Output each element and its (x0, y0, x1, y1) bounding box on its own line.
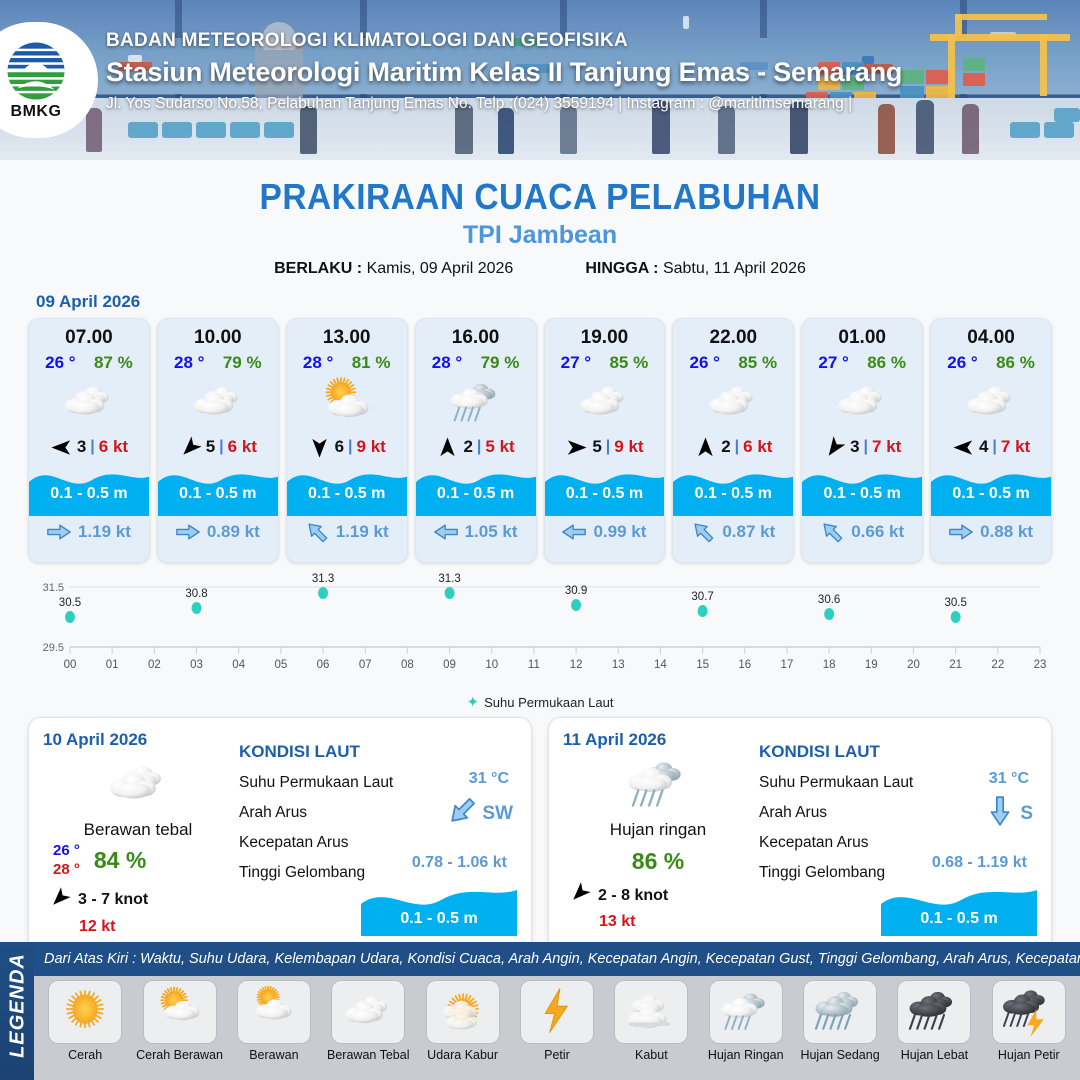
wind-gust-separator: | (90, 438, 94, 456)
current-row: 0.87 kt (673, 516, 793, 548)
current-direction-value: SW (482, 803, 513, 825)
forecast-temp-hum-row: 26 ° 86 % (931, 349, 1051, 373)
svg-text:09: 09 (443, 659, 456, 669)
forecast-humidity: 87 % (94, 353, 133, 373)
day-weather-icon (43, 754, 233, 816)
svg-text:04: 04 (232, 659, 245, 669)
day-humidity: 86 % (563, 848, 753, 875)
svg-text:21: 21 (949, 659, 962, 669)
svg-text:23: 23 (1034, 659, 1047, 669)
forecast-temperature: 26 ° (45, 353, 75, 373)
hingga-group: HINGGA : Sabtu, 11 April 2026 (585, 260, 806, 278)
wind-gust: 6 kt (743, 437, 772, 457)
legend-order-note: Dari Atas Kiri : Waktu, Suhu Udara, Kele… (34, 942, 1080, 976)
legend-item: Berawan Tebal (323, 980, 413, 1062)
day-left-column: 10 April 2026 Berawan tebal (43, 730, 233, 942)
wind-speed: 6 (335, 437, 344, 457)
svg-text:08: 08 (401, 659, 414, 669)
forecast-temperature: 28 ° (174, 353, 204, 373)
day-wind-range: 3 - 7 knot (78, 891, 148, 909)
agency-name: BADAN METEOROLOGI KLIMATOLOGI DAN GEOFIS… (106, 30, 1066, 52)
svg-text:02: 02 (148, 659, 161, 669)
legend-item-label: Hujan Petir (998, 1048, 1060, 1062)
forecast-humidity: 85 % (609, 353, 648, 373)
current-speed-value: 0.78 - 1.06 kt (412, 854, 507, 872)
forecast-wind-row: 2 | 6 kt (673, 432, 793, 462)
wind-gust-separator: | (864, 438, 868, 456)
weather-condition-icon (416, 376, 536, 430)
svg-text:12: 12 (570, 659, 583, 669)
legend-item-label: Hujan Lebat (901, 1048, 968, 1062)
wind-speed: 2 (721, 437, 730, 457)
title-block: PRAKIRAAN CUACA PELABUHAN TPI Jambean BE… (0, 160, 1080, 278)
day-wind-direction-arrow-icon (569, 882, 591, 909)
forecast-wind-row: 2 | 5 kt (416, 432, 536, 462)
wind-gust: 7 kt (1001, 437, 1030, 457)
svg-text:30.5: 30.5 (59, 597, 81, 609)
day-condition-label: Berawan tebal (43, 820, 233, 840)
forecast-wind-row: 6 | 9 kt (287, 432, 407, 462)
wind-direction-arrow-icon (308, 436, 331, 459)
legend-icon-box (48, 980, 122, 1044)
forecast-time: 22.00 (673, 319, 793, 349)
wind-speed: 3 (77, 437, 86, 457)
day-wind-direction-arrow-icon (49, 887, 71, 914)
forecast-time: 07.00 (29, 319, 149, 349)
wind-gust-separator: | (348, 438, 352, 456)
bmkg-logo-label: BMKG (11, 103, 62, 121)
forecast-date-label: 09 April 2026 (36, 292, 1080, 312)
day-gust: 12 kt (43, 918, 233, 936)
page-title: PRAKIRAAN CUACA PELABUHAN (38, 176, 1042, 218)
sst-value: 31 °C (469, 770, 509, 788)
svg-text:10: 10 (485, 659, 498, 669)
day-wind-range: 2 - 8 knot (598, 887, 668, 905)
svg-text:29.5: 29.5 (43, 642, 64, 654)
legend-icon-box (803, 980, 877, 1044)
legend-icon-box (426, 980, 500, 1044)
forecast-time: 10.00 (158, 319, 278, 349)
current-direction-arrow-icon (562, 523, 586, 541)
current-speed: 0.88 kt (980, 522, 1033, 542)
wind-speed: 4 (979, 437, 988, 457)
current-direction-arrow-icon (434, 523, 458, 541)
wind-direction-arrow-icon (50, 436, 73, 459)
forecast-time: 16.00 (416, 319, 536, 349)
weather-condition-icon (931, 376, 1051, 430)
contact-line: Jl. Yos Sudarso No.58, Pelabuhan Tanjung… (106, 95, 1066, 113)
chart-legend: ✦ Suhu Permukaan Laut (0, 693, 1080, 711)
page-subtitle: TPI Jambean (0, 221, 1080, 250)
current-speed: 1.19 kt (78, 522, 131, 542)
legend-icon-box (614, 980, 688, 1044)
forecast-humidity: 79 % (481, 353, 520, 373)
wave-height-band: 0.1 - 0.5 m (416, 464, 536, 516)
legend-icon-box (897, 980, 971, 1044)
legend-item: Hujan Ringan (701, 980, 791, 1062)
wave-height-value: 0.1 - 0.5 m (416, 485, 536, 503)
validity-row: BERLAKU : Kamis, 09 April 2026 HINGGA : … (0, 260, 1080, 278)
legend-side-banner: LEGENDA (0, 942, 34, 1080)
legend-item-label: Udara Kabur (427, 1048, 498, 1062)
forecast-wind-row: 5 | 6 kt (158, 432, 278, 462)
svg-text:05: 05 (274, 659, 287, 669)
forecast-time: 01.00 (802, 319, 922, 349)
legend-item: Hujan Petir (984, 980, 1074, 1062)
wind-direction-arrow-icon (694, 436, 717, 459)
svg-text:19: 19 (865, 659, 878, 669)
forecast-wind-row: 4 | 7 kt (931, 432, 1051, 462)
sea-conditions-title: KONDISI LAUT (239, 742, 517, 762)
forecast-card: 10.00 28 ° 79 % 5 (157, 318, 279, 563)
legend-item-label: Hujan Sedang (800, 1048, 879, 1062)
day-wind-row: 2 - 8 knot (563, 882, 753, 909)
wind-gust-separator: | (606, 438, 610, 456)
day-wave-band: 0.1 - 0.5 m (361, 882, 517, 936)
current-speed-label: Kecepatan Arus (239, 834, 517, 852)
current-row: 0.88 kt (931, 516, 1051, 548)
day-left-column: 11 April 2026 Hujan ringan 86 % (563, 730, 753, 942)
legend-item: Petir (512, 980, 602, 1062)
current-row: 1.19 kt (29, 516, 149, 548)
day-temperature-range: 26 ° 28 ° (53, 842, 80, 880)
forecast-wind-row: 3 | 7 kt (802, 432, 922, 462)
current-speed: 0.89 kt (207, 522, 260, 542)
sst-chart-svg: 31.529.500010203040506070809101112131415… (28, 573, 1052, 669)
forecast-temperature: 26 ° (947, 353, 977, 373)
svg-text:20: 20 (907, 659, 920, 669)
wave-height-value: 0.1 - 0.5 m (931, 485, 1051, 503)
wave-height-value: 0.1 - 0.5 m (545, 485, 665, 503)
forecast-card: 13.00 28 ° 81 % 6 | 9 kt (286, 318, 408, 563)
svg-text:13: 13 (612, 659, 625, 669)
wave-height-band: 0.1 - 0.5 m (29, 464, 149, 516)
legend-icon-box (237, 980, 311, 1044)
wave-height-band: 0.1 - 0.5 m (158, 464, 278, 516)
svg-text:16: 16 (738, 659, 751, 669)
forecast-card: 19.00 27 ° 85 % 5 (544, 318, 666, 563)
forecast-humidity: 86 % (867, 353, 906, 373)
wind-direction-arrow-icon (565, 436, 588, 459)
legend-item: Kabut (606, 980, 696, 1062)
forecast-temperature: 27 ° (561, 353, 591, 373)
chart-legend-label: Suhu Permukaan Laut (484, 695, 613, 710)
svg-text:06: 06 (317, 659, 330, 669)
wave-height-band: 0.1 - 0.5 m (287, 464, 407, 516)
current-row: 1.05 kt (416, 516, 536, 548)
berlaku-label: BERLAKU : (274, 260, 362, 277)
current-direction-arrow-icon (305, 523, 329, 541)
legend-item-label: Hujan Ringan (708, 1048, 784, 1062)
wave-height-band: 0.1 - 0.5 m (802, 464, 922, 516)
legend-item: Cerah (40, 980, 130, 1062)
forecast-temp-hum-row: 27 ° 85 % (545, 349, 665, 373)
wind-speed: 2 (463, 437, 472, 457)
svg-text:30.5: 30.5 (944, 597, 966, 609)
current-direction-value: S (1020, 803, 1033, 825)
current-direction-arrow-icon (691, 523, 715, 541)
wind-gust: 5 kt (485, 437, 514, 457)
sst-value: 31 °C (989, 770, 1029, 788)
wind-direction-arrow-icon (179, 436, 202, 459)
weather-condition-icon (29, 376, 149, 430)
forecast-temperature: 28 ° (432, 353, 462, 373)
current-direction-arrow-icon (47, 523, 71, 541)
wave-height-band: 0.1 - 0.5 m (673, 464, 793, 516)
legend-icon-box (143, 980, 217, 1044)
day-temp-min: 26 ° (53, 842, 80, 861)
wind-speed: 5 (592, 437, 601, 457)
current-speed: 1.05 kt (465, 522, 518, 542)
legend-icon-box (709, 980, 783, 1044)
forecast-temperature: 28 ° (303, 353, 333, 373)
svg-text:00: 00 (64, 659, 77, 669)
svg-text:31.5: 31.5 (43, 582, 64, 594)
wind-gust-separator: | (477, 438, 481, 456)
legend-icon-box (520, 980, 594, 1044)
day-condition-label: Hujan ringan (563, 820, 753, 840)
daily-summary-row: 10 April 2026 Berawan tebal (0, 711, 1080, 955)
daily-summary-card: 10 April 2026 Berawan tebal (28, 717, 532, 955)
forecast-card: 07.00 26 ° 87 % 3 (28, 318, 150, 563)
forecast-time: 19.00 (545, 319, 665, 349)
legend-icon-box (992, 980, 1066, 1044)
current-speed-label: Kecepatan Arus (759, 834, 1037, 852)
forecast-wind-row: 3 | 6 kt (29, 432, 149, 462)
wind-direction-arrow-icon (436, 436, 459, 459)
legend-icon-box (331, 980, 405, 1044)
current-direction-arrow-icon (949, 523, 973, 541)
current-row: 0.99 kt (545, 516, 665, 548)
legend-item: Berawan (229, 980, 319, 1062)
svg-text:22: 22 (991, 659, 1004, 669)
berlaku-value: Kamis, 09 April 2026 (367, 260, 514, 277)
current-row: 0.89 kt (158, 516, 278, 548)
page-header: BMKG BADAN METEOROLOGI KLIMATOLOGI DAN G… (0, 0, 1080, 160)
svg-text:14: 14 (654, 659, 667, 669)
wind-speed: 5 (206, 437, 215, 457)
current-speed-value: 0.68 - 1.19 kt (932, 854, 1027, 872)
forecast-wind-row: 5 | 9 kt (545, 432, 665, 462)
legend-section: LEGENDA Dari Atas Kiri : Waktu, Suhu Uda… (0, 942, 1080, 1080)
svg-text:01: 01 (106, 659, 119, 669)
weather-condition-icon (158, 376, 278, 430)
forecast-temp-hum-row: 26 ° 87 % (29, 349, 149, 373)
wave-height-value: 0.1 - 0.5 m (29, 485, 149, 503)
current-speed: 1.19 kt (336, 522, 389, 542)
current-speed: 0.87 kt (722, 522, 775, 542)
wind-gust: 6 kt (99, 437, 128, 457)
current-direction-arrow-icon (447, 800, 477, 827)
hingga-value: Sabtu, 11 April 2026 (663, 260, 806, 277)
svg-text:15: 15 (696, 659, 709, 669)
svg-text:03: 03 (190, 659, 203, 669)
forecast-card-row: 07.00 26 ° 87 % 3 (0, 318, 1080, 563)
day-sea-conditions: KONDISI LAUT Suhu Permukaan Laut Arah Ar… (753, 730, 1037, 942)
legend-item: Hujan Sedang (795, 980, 885, 1062)
hingga-label: HINGGA : (585, 260, 658, 277)
sst-chart: 31.529.500010203040506070809101112131415… (28, 573, 1052, 691)
forecast-card: 22.00 26 ° 85 % 2 (672, 318, 794, 563)
weather-condition-icon (545, 376, 665, 430)
current-speed: 0.66 kt (851, 522, 904, 542)
legend-item-label: Petir (544, 1048, 570, 1062)
wave-height-value: 0.1 - 0.5 m (673, 485, 793, 503)
wave-height-band: 0.1 - 0.5 m (931, 464, 1051, 516)
current-direction-arrow-icon (176, 523, 200, 541)
current-direction-arrow-icon (820, 523, 844, 541)
weather-condition-icon (802, 376, 922, 430)
forecast-temp-hum-row: 28 ° 79 % (158, 349, 278, 373)
day-date: 11 April 2026 (563, 730, 753, 750)
weather-condition-icon (673, 376, 793, 430)
station-name: Stasiun Meteorologi Maritim Kelas II Tan… (106, 57, 1066, 88)
sea-conditions-title: KONDISI LAUT (759, 742, 1037, 762)
wind-gust-separator: | (992, 438, 996, 456)
legend-item-label: Berawan (249, 1048, 298, 1062)
weather-condition-icon (287, 376, 407, 430)
day-gust: 13 kt (563, 913, 753, 931)
svg-text:31.3: 31.3 (312, 573, 334, 585)
wind-gust: 7 kt (872, 437, 901, 457)
forecast-humidity: 86 % (996, 353, 1035, 373)
current-direction-value-group: SW (447, 800, 513, 827)
wave-height-value: 0.1 - 0.5 m (287, 485, 407, 503)
wind-gust: 6 kt (228, 437, 257, 457)
day-temp-max: 28 ° (53, 861, 80, 880)
day-weather-icon (563, 754, 753, 816)
bmkg-logo-mark (5, 40, 67, 102)
day-wave-value: 0.1 - 0.5 m (881, 910, 1037, 928)
forecast-temp-hum-row: 28 ° 79 % (416, 349, 536, 373)
wind-direction-arrow-icon (823, 436, 846, 459)
legend-item-row: Cerah Cerah Berawan (34, 980, 1080, 1062)
forecast-time: 13.00 (287, 319, 407, 349)
svg-text:31.3: 31.3 (438, 573, 460, 585)
current-direction-arrow-icon (985, 800, 1015, 827)
day-date: 10 April 2026 (43, 730, 233, 750)
daily-summary-card: 11 April 2026 Hujan ringan 86 % (548, 717, 1052, 955)
forecast-card: 01.00 27 ° 86 % 3 (801, 318, 923, 563)
wind-direction-arrow-icon (952, 436, 975, 459)
svg-text:07: 07 (359, 659, 372, 669)
chart-legend-marker-icon: ✦ (467, 693, 480, 711)
svg-text:30.8: 30.8 (185, 588, 207, 600)
forecast-humidity: 81 % (352, 353, 391, 373)
forecast-card: 04.00 26 ° 86 % 4 (930, 318, 1052, 563)
forecast-humidity: 79 % (223, 353, 262, 373)
current-row: 0.66 kt (802, 516, 922, 548)
day-humidity: 84 % (94, 847, 146, 874)
svg-text:30.7: 30.7 (691, 591, 713, 603)
svg-text:30.9: 30.9 (565, 585, 587, 597)
forecast-card: 16.00 28 ° 79 % 2 (415, 318, 537, 563)
berlaku-group: BERLAKU : Kamis, 09 April 2026 (274, 260, 513, 278)
svg-text:17: 17 (781, 659, 794, 669)
header-text-block: BADAN METEOROLOGI KLIMATOLOGI DAN GEOFIS… (106, 30, 1066, 113)
wind-gust: 9 kt (357, 437, 386, 457)
forecast-temperature: 27 ° (818, 353, 848, 373)
legend-item: Hujan Lebat (889, 980, 979, 1062)
day-wave-value: 0.1 - 0.5 m (361, 910, 517, 928)
current-speed: 0.99 kt (593, 522, 646, 542)
wave-height-value: 0.1 - 0.5 m (158, 485, 278, 503)
wind-gust: 9 kt (614, 437, 643, 457)
legend-side-title: LEGENDA (7, 952, 30, 1060)
forecast-temp-hum-row: 28 ° 81 % (287, 349, 407, 373)
wave-height-band: 0.1 - 0.5 m (545, 464, 665, 516)
svg-text:18: 18 (823, 659, 836, 669)
day-wind-row: 3 - 7 knot (43, 887, 233, 914)
current-direction-value-group: S (985, 800, 1033, 827)
legend-item-label: Kabut (635, 1048, 668, 1062)
forecast-temp-hum-row: 27 ° 86 % (802, 349, 922, 373)
legend-item-label: Cerah (68, 1048, 102, 1062)
legend-item: Cerah Berawan (134, 980, 224, 1062)
forecast-temperature: 26 ° (690, 353, 720, 373)
svg-text:30.6: 30.6 (818, 594, 840, 606)
wind-gust-separator: | (219, 438, 223, 456)
day-sea-conditions: KONDISI LAUT Suhu Permukaan Laut Arah Ar… (233, 730, 517, 942)
svg-text:11: 11 (528, 659, 540, 669)
day-wave-band: 0.1 - 0.5 m (881, 882, 1037, 936)
legend-item: Udara Kabur (417, 980, 507, 1062)
wind-speed: 3 (850, 437, 859, 457)
wave-height-value: 0.1 - 0.5 m (802, 485, 922, 503)
legend-item-label: Cerah Berawan (136, 1048, 223, 1062)
forecast-humidity: 85 % (738, 353, 777, 373)
current-row: 1.19 kt (287, 516, 407, 548)
wind-gust-separator: | (735, 438, 739, 456)
legend-item-label: Berawan Tebal (327, 1048, 409, 1062)
forecast-time: 04.00 (931, 319, 1051, 349)
day-temp-hum-row: 26 ° 28 ° 84 % (43, 842, 233, 880)
forecast-temp-hum-row: 26 ° 85 % (673, 349, 793, 373)
